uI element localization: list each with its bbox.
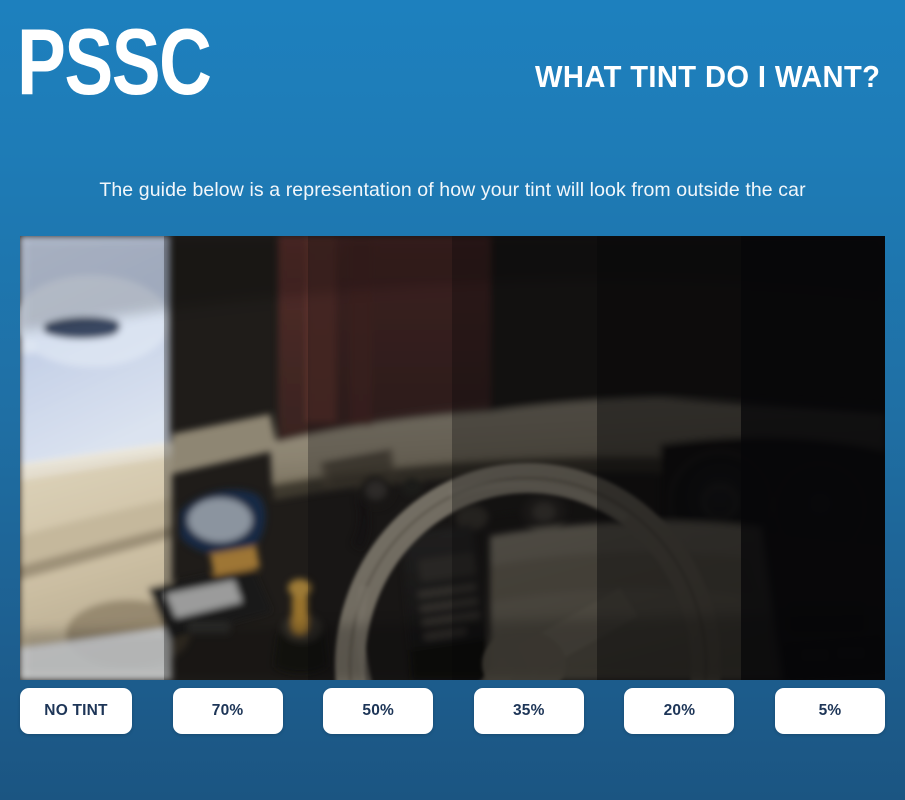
subtitle-text: The guide below is a representation of h… (0, 176, 905, 204)
tint-panel-70 (164, 236, 308, 680)
tint-panel-50 (308, 236, 452, 680)
tint-button-35[interactable]: 35% (474, 688, 584, 734)
tint-button-no-tint[interactable]: NO TINT (20, 688, 132, 734)
tint-preview-image (20, 236, 885, 680)
tint-overlay-panels (20, 236, 885, 680)
page-header: PSSC WHAT TINT DO I WANT? (0, 0, 905, 140)
tint-button-20[interactable]: 20% (624, 688, 734, 734)
tint-panel-no-tint (20, 236, 164, 680)
page-title: WHAT TINT DO I WANT? (535, 58, 880, 96)
tint-panel-5 (741, 236, 885, 680)
tint-guide-page: PSSC WHAT TINT DO I WANT? The guide belo… (0, 0, 905, 800)
pssc-logo: PSSC (17, 12, 210, 112)
tint-level-buttons: NO TINT 70% 50% 35% 20% 5% (20, 688, 885, 734)
tint-button-70[interactable]: 70% (173, 688, 283, 734)
tint-panel-35 (452, 236, 596, 680)
tint-panel-20 (597, 236, 741, 680)
tint-button-50[interactable]: 50% (323, 688, 433, 734)
tint-button-5[interactable]: 5% (775, 688, 885, 734)
